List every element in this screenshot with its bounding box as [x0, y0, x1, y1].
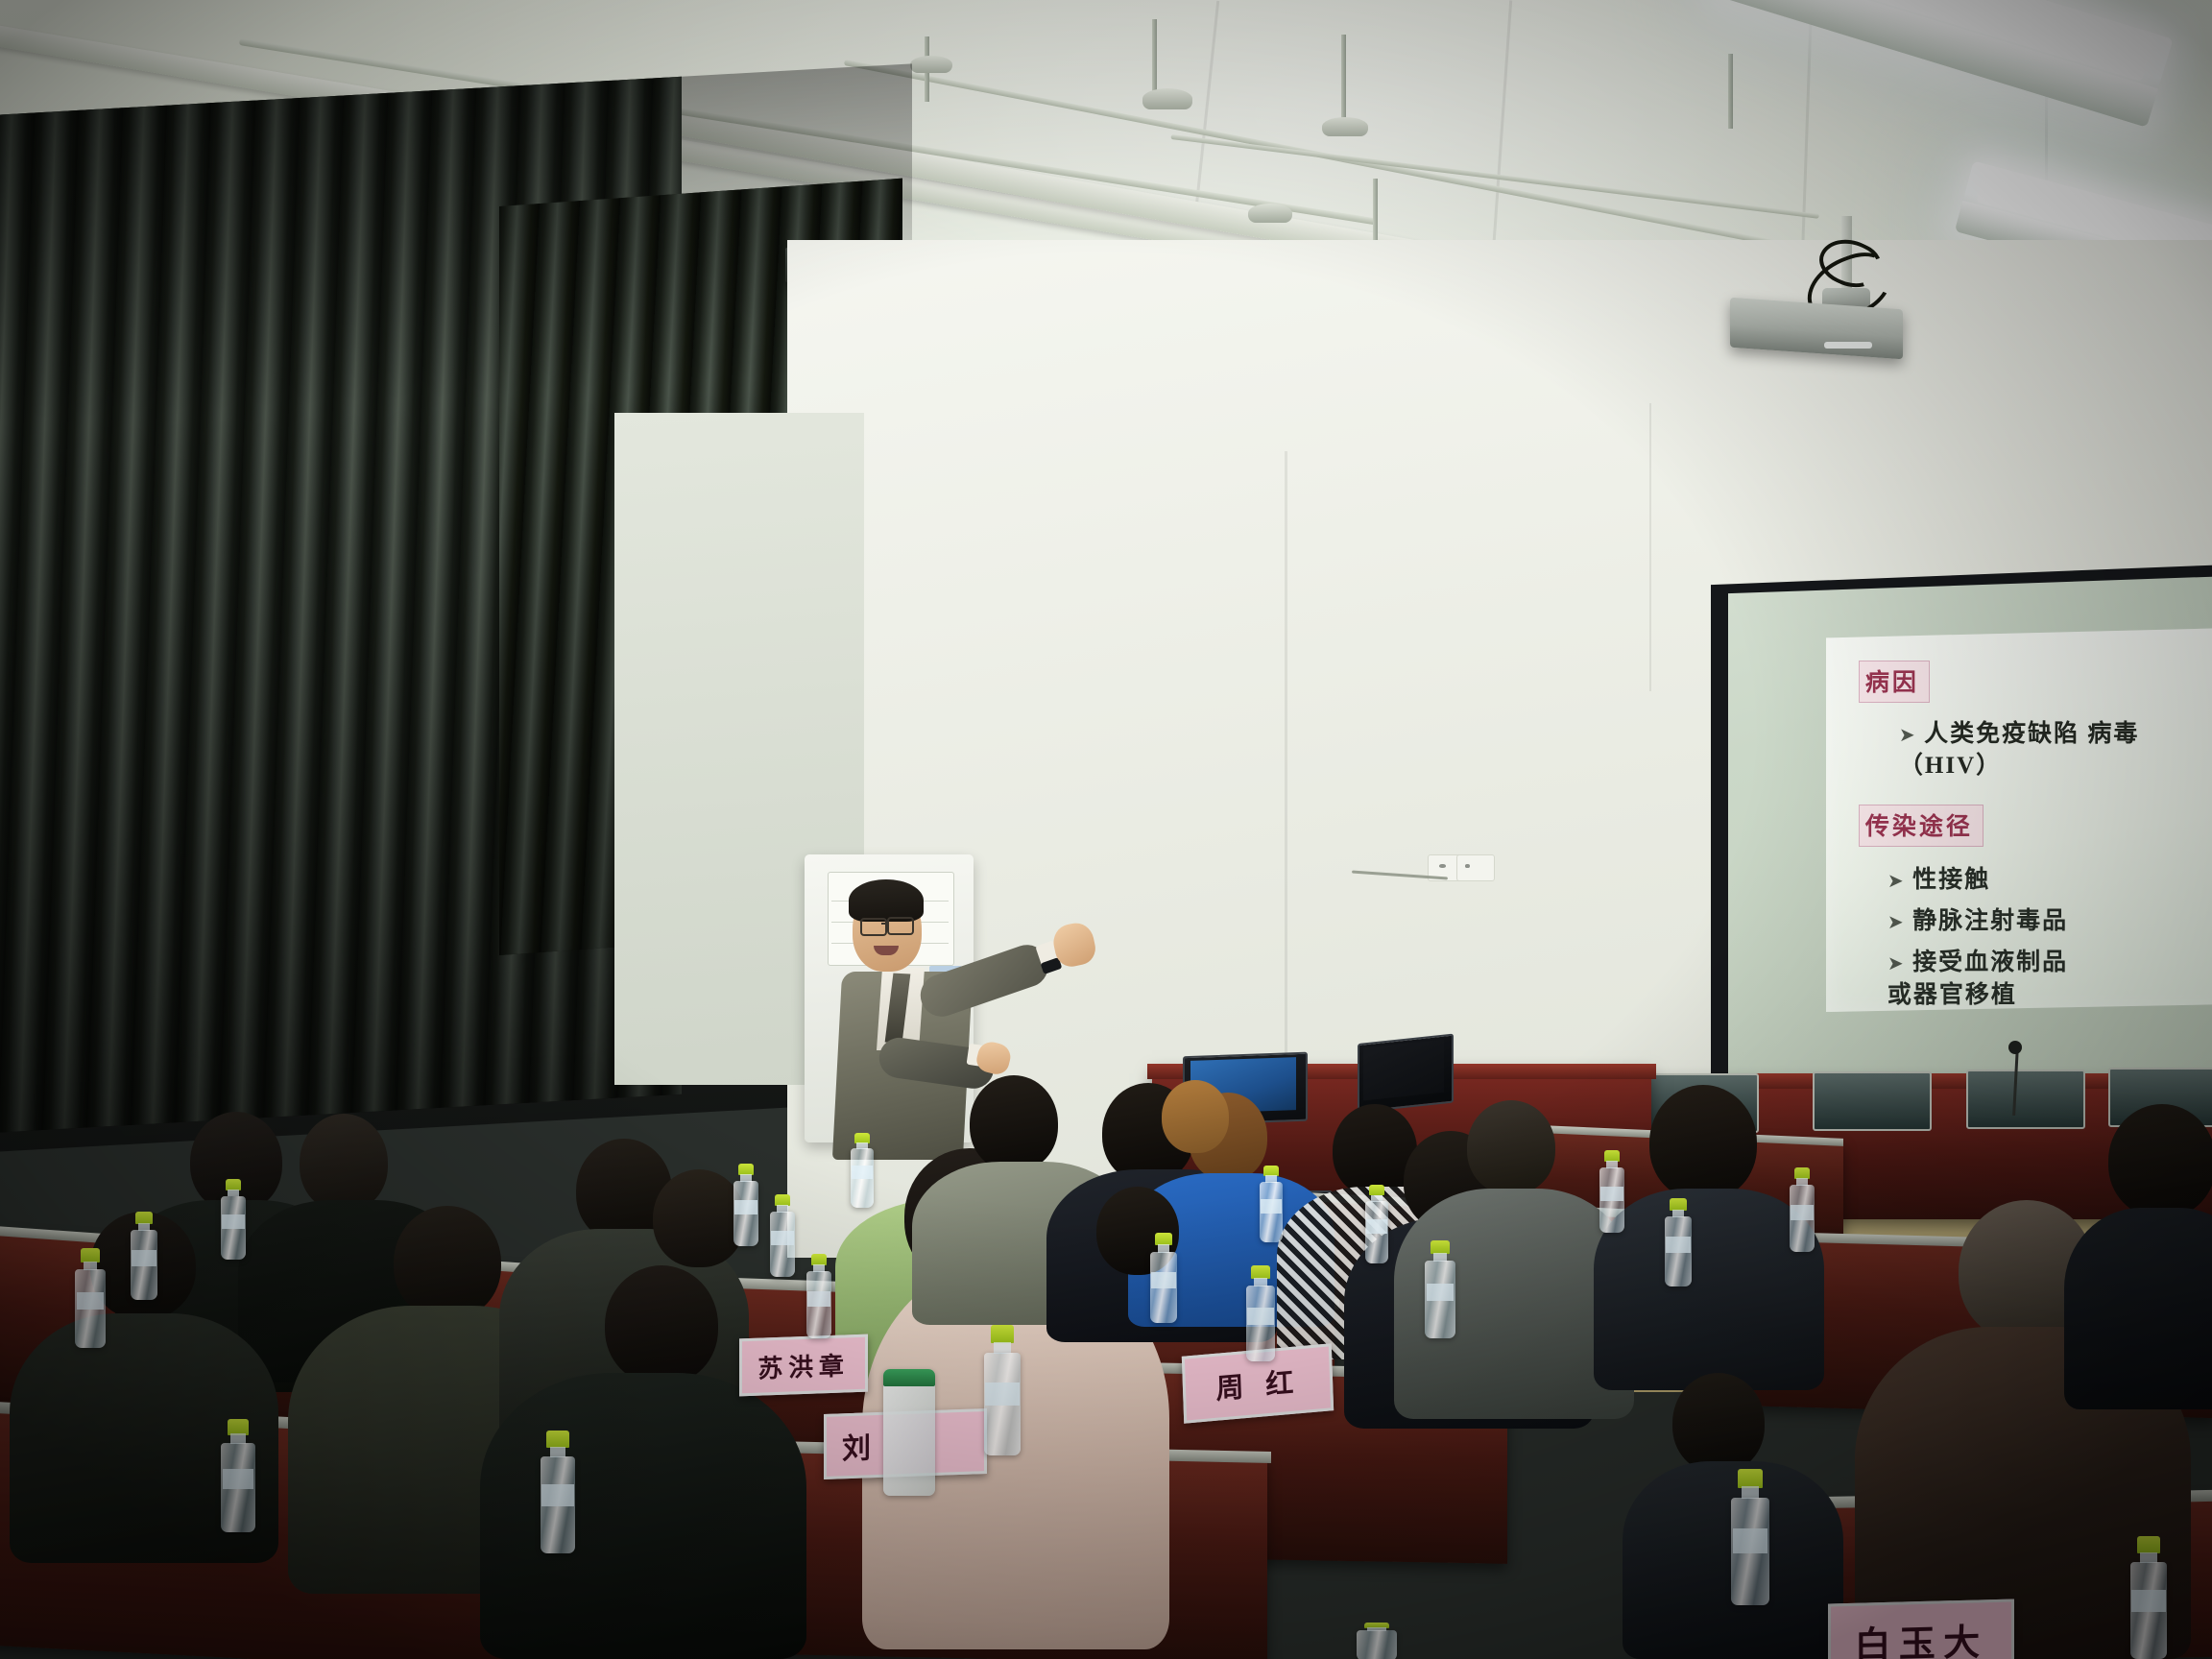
placard-name: 白玉大 [1854, 1612, 1987, 1659]
ceiling-hanger [1152, 19, 1157, 94]
person-torso [2064, 1208, 2212, 1409]
wall-seam [1649, 403, 1651, 691]
water-bottle[interactable] [1354, 1623, 1400, 1659]
chair-back[interactable] [1966, 1070, 2085, 1129]
name-placard[interactable]: 白玉大 [1828, 1599, 2014, 1659]
water-bottle[interactable] [805, 1254, 833, 1338]
person-head [970, 1075, 1058, 1171]
slide-bullet-arrow-icon: ➤ [1887, 871, 1904, 892]
placard-name: 苏洪章 [757, 1346, 849, 1384]
person-torso [480, 1373, 806, 1659]
ceiling-hanger [1728, 54, 1733, 129]
person-head [605, 1265, 718, 1384]
pendant-lamp [1142, 88, 1192, 109]
water-bottle[interactable] [1423, 1240, 1457, 1338]
person-head [1649, 1085, 1757, 1200]
person-head [1162, 1080, 1229, 1153]
slide-heading-transmission: 传染途径 [1859, 805, 1984, 847]
water-bottle[interactable] [73, 1248, 108, 1348]
water-bottle[interactable] [1148, 1233, 1179, 1323]
projector-lens [1824, 342, 1872, 349]
water-bottle[interactable] [219, 1419, 257, 1532]
gooseneck-microphone-head [2008, 1041, 2022, 1054]
placard-name: 周 红 [1215, 1359, 1301, 1407]
slide-bullet-iv-drug: 静脉注射毒品 [1912, 908, 2068, 934]
laptop[interactable] [1358, 1034, 1450, 1109]
slide-bullet-sexual-contact: 性接触 [1912, 867, 1990, 893]
slide-bullet-hiv: 人类免疫缺陷 病毒（HIV） [1899, 721, 2139, 779]
water-bottle[interactable] [129, 1212, 159, 1300]
water-bottle[interactable] [732, 1164, 760, 1246]
water-bottle[interactable] [1363, 1185, 1390, 1263]
placard-name: 刘 [842, 1424, 878, 1467]
pendant-lamp [910, 56, 952, 73]
presenter-glasses-left-lens [860, 918, 887, 936]
water-bottle[interactable] [1728, 1469, 1772, 1605]
ceiling-hanger [1373, 179, 1378, 250]
water-bottle[interactable] [219, 1179, 248, 1260]
power-socket-blank[interactable] [1456, 854, 1495, 881]
water-bottle[interactable] [538, 1431, 578, 1553]
ceiling-hanger [1341, 35, 1346, 123]
presenter-glasses-right-lens [887, 917, 914, 935]
slide-bullet-arrow-icon: ➤ [1887, 953, 1904, 974]
person-head [300, 1114, 388, 1212]
person-head [2108, 1104, 2212, 1217]
water-bottle[interactable] [981, 1325, 1023, 1455]
water-bottle[interactable] [1244, 1265, 1277, 1361]
person-head [1467, 1100, 1555, 1194]
presenter-glasses-bridge [881, 923, 889, 925]
slide-bullet-arrow-icon: ➤ [1887, 912, 1904, 933]
pendant-lamp [1248, 204, 1292, 223]
water-bottle[interactable] [1663, 1198, 1694, 1286]
water-bottle[interactable] [849, 1133, 876, 1208]
slide-bullet-arrow-icon: ➤ [1899, 725, 1915, 746]
person-head [394, 1206, 501, 1319]
chair-back[interactable] [1813, 1071, 1932, 1131]
projected-slide: 病因 ➤ 人类免疫缺陷 病毒（HIV） 传染途径 ➤ 性接触 ➤ 静脉注射毒品 [1826, 628, 2212, 1012]
drinking-tumbler[interactable] [883, 1369, 935, 1496]
slide-bullet-blood-products: 接受血液制品 或器官移植 [1887, 950, 2068, 1008]
water-bottle[interactable] [768, 1194, 797, 1277]
pendant-lamp [1322, 117, 1368, 136]
presenter-hair [849, 879, 924, 922]
water-bottle[interactable] [1258, 1166, 1285, 1242]
name-placard[interactable]: 苏洪章 [739, 1334, 868, 1397]
lecture-hall-photo: 病因 ➤ 人类免疫缺陷 病毒（HIV） 传染途径 ➤ 性接触 ➤ 静脉注射毒品 [0, 0, 2212, 1659]
water-bottle[interactable] [1598, 1150, 1626, 1233]
water-bottle[interactable] [1788, 1167, 1816, 1252]
person-head [1672, 1373, 1765, 1473]
water-bottle[interactable] [2128, 1536, 2170, 1659]
wall-seam [1285, 451, 1287, 1104]
slide-heading-cause: 病因 [1859, 661, 1930, 703]
